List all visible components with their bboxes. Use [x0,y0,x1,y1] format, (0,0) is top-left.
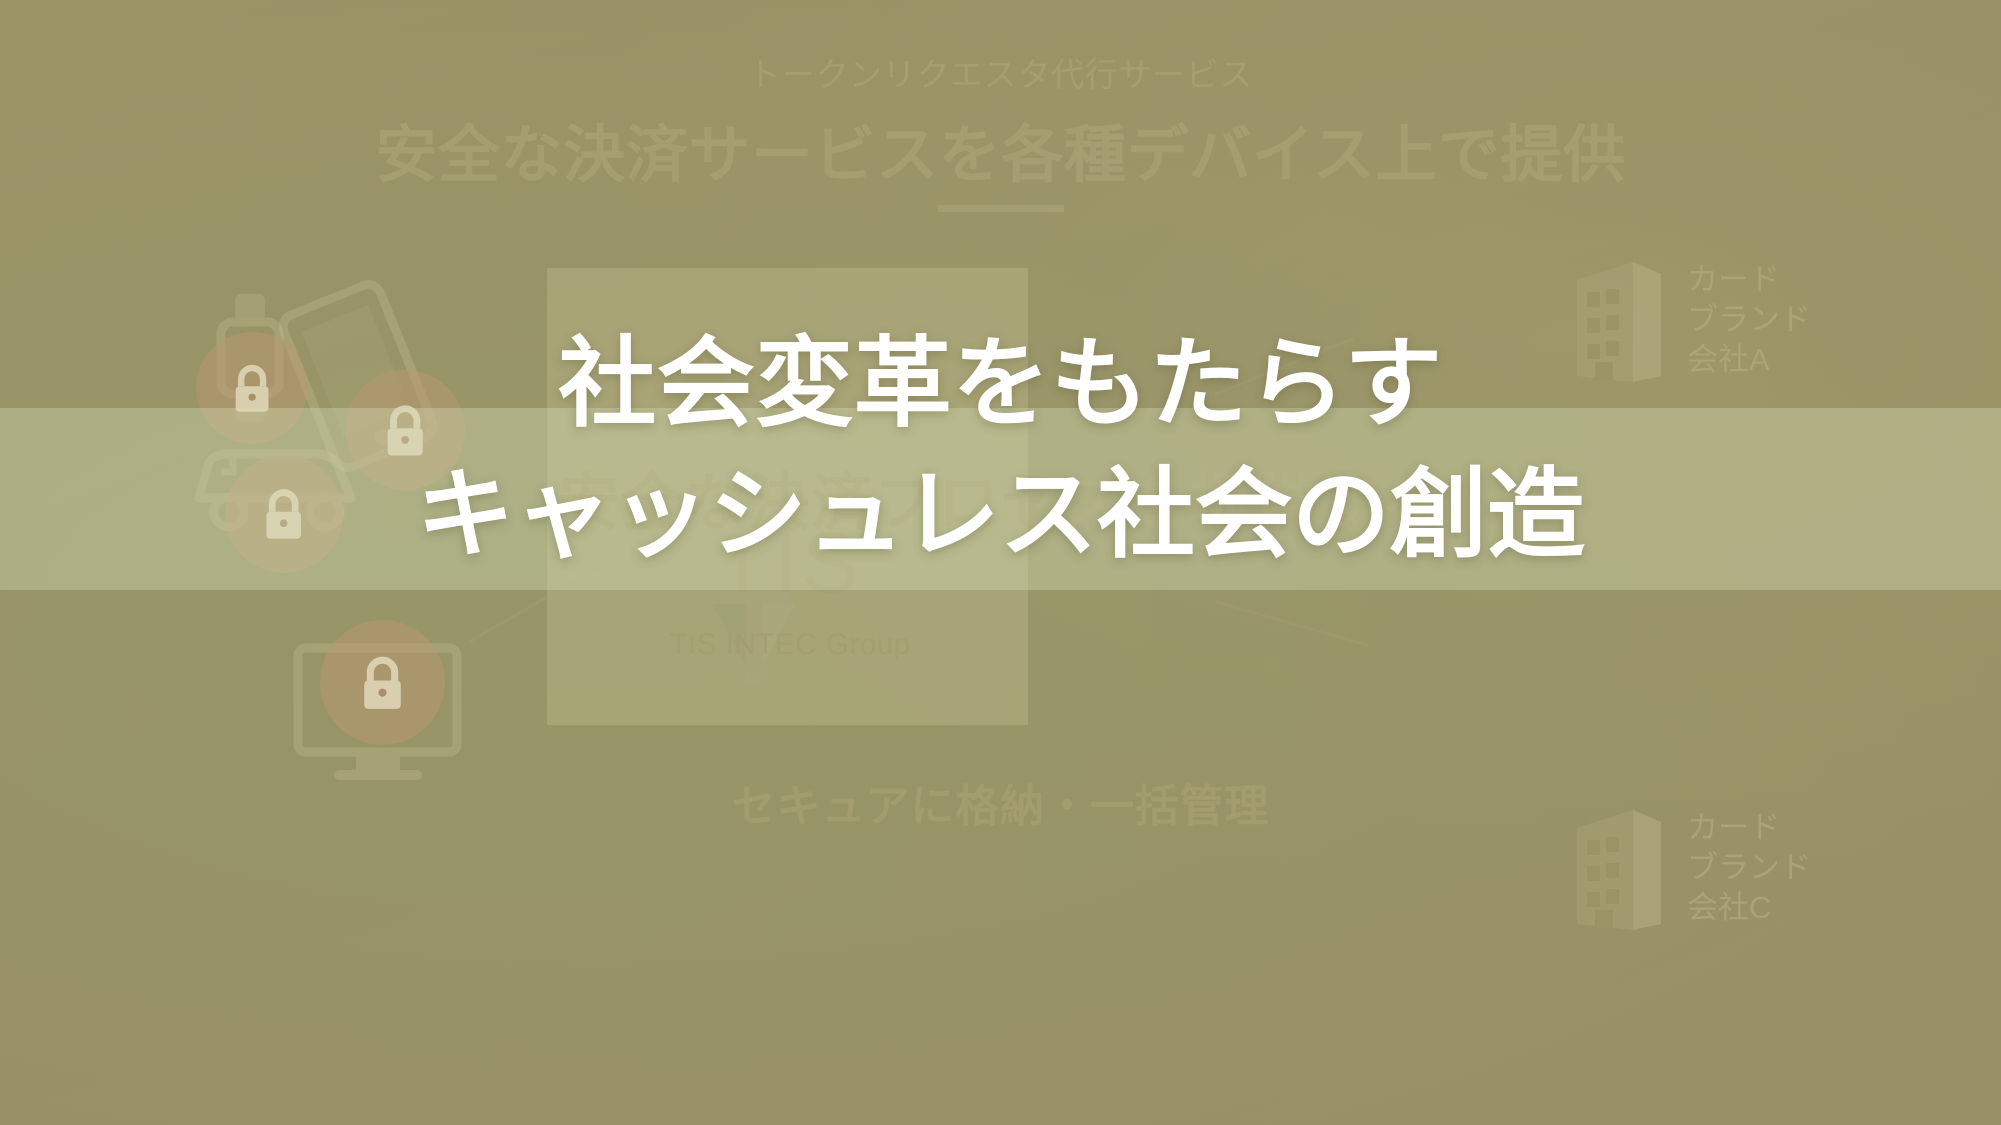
tis-logo-icon: TIS [600,520,980,705]
connector-line [1214,337,1354,396]
card-brand-a-label: カード ブランド 会社A [1687,260,1811,381]
background-slide-artwork: TIS TIS INTEC Group トークンリクエスタ代行サービス 安全な決… [0,0,2001,1125]
background-subheadline: 安全な決済プロセスを提供する [558,452,1443,542]
lock-icon [225,455,343,573]
background-kicker: トークンリクエスタ代行サービス [748,48,1253,96]
brand-line-3: 会社C [1687,888,1811,928]
building-icon [1573,258,1665,382]
brand-line-2: ブランド [1687,300,1811,340]
tis-tagline: TIS INTEC Group [600,628,980,662]
hero-banner: TIS TIS INTEC Group トークンリクエスタ代行サービス 安全な決… [0,0,2001,1125]
background-headline: 安全な決済サービスを各種デバイス上で提供 [375,104,1626,194]
background-caption: セキュアに格納・一括管理 [732,770,1270,834]
brand-line-3: 会社A [1687,340,1811,380]
brand-line-1: カード [1687,260,1811,300]
building-icon [1573,806,1665,930]
lock-icon [320,620,445,745]
card-brand-a: カード ブランド 会社A [1573,258,1811,382]
background-divider [938,205,1064,212]
brand-line-1: カード [1687,808,1811,848]
brand-line-2: ブランド [1687,848,1811,888]
lock-icon [196,332,308,444]
connector-line [1215,600,1370,647]
card-brand-c-label: カード ブランド 会社C [1687,808,1811,929]
card-brand-c: カード ブランド 会社C [1573,806,1811,930]
